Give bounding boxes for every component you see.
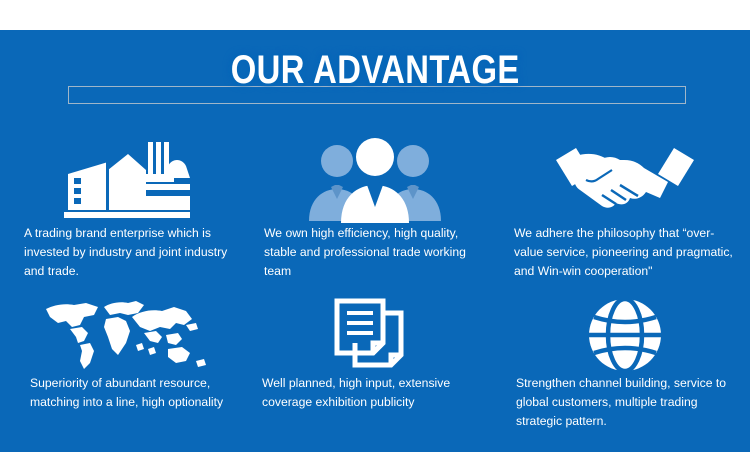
advantage-text: Well planned, high input, extensive cove… <box>250 374 500 412</box>
handshake-icon <box>500 136 750 224</box>
advantage-text: Superiority of abundant resource, matchi… <box>0 374 250 412</box>
advantage-item-world-map: Superiority of abundant resource, matchi… <box>0 296 250 446</box>
advantage-text: We adhere the philosophy that “over-valu… <box>500 224 750 281</box>
advantage-item-team: We own high efficiency, high quality, st… <box>250 136 500 296</box>
factory-icon <box>0 136 250 224</box>
advantage-row-2: Superiority of abundant resource, matchi… <box>0 296 750 446</box>
section-header: OUR ADVANTAGE <box>0 48 750 110</box>
advantage-item-handshake: We adhere the philosophy that “over-valu… <box>500 136 750 296</box>
advantage-item-documents: Well planned, high input, extensive cove… <box>250 296 500 446</box>
advantage-text: We own high efficiency, high quality, st… <box>250 224 500 281</box>
advantage-item-globe: Strengthen channel building, service to … <box>500 296 750 446</box>
section-title-wrapper: OUR ADVANTAGE <box>0 48 750 92</box>
advantage-text: A trading brand enterprise which is inve… <box>0 224 250 281</box>
advantage-row-1: A trading brand enterprise which is inve… <box>0 136 750 296</box>
advantage-item-factory: A trading brand enterprise which is inve… <box>0 136 250 296</box>
world-map-icon <box>0 296 250 374</box>
globe-icon <box>500 296 750 374</box>
advantage-grid: A trading brand enterprise which is inve… <box>0 136 750 446</box>
documents-icon <box>250 296 500 374</box>
page-title: OUR ADVANTAGE <box>216 48 535 92</box>
advantage-banner: OUR ADVANTAGE <box>0 0 750 473</box>
team-people-icon <box>250 136 500 224</box>
advantage-text: Strengthen channel building, service to … <box>500 374 750 431</box>
